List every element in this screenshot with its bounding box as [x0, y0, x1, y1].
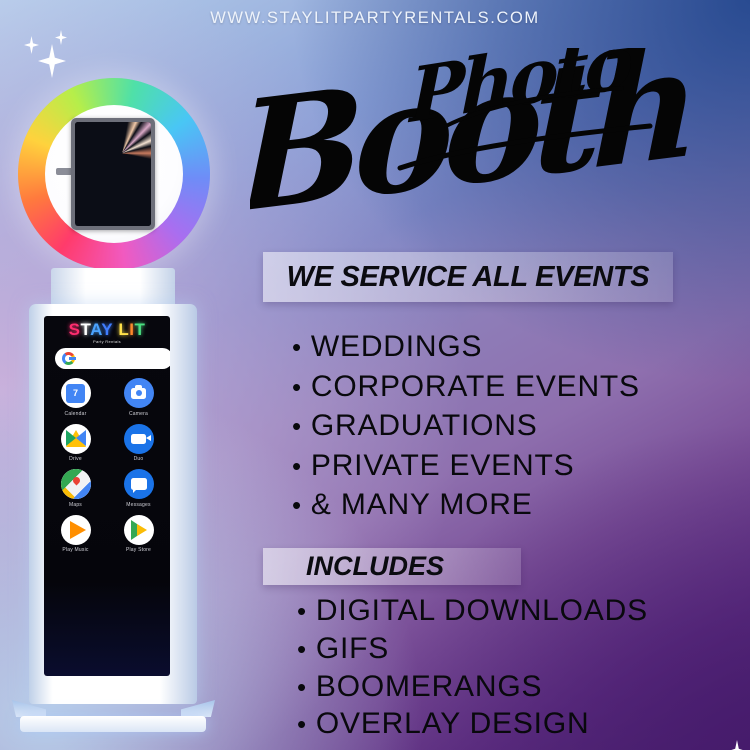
app-item-duo[interactable]: Duo — [107, 424, 170, 463]
photo-booth-illustration: STAY LIT Party Rentals 7 Calendar Camera — [8, 70, 238, 742]
events-banner-label: WE SERVICE ALL EVENTS — [287, 261, 650, 294]
staylit-logo-letter: S — [69, 320, 81, 339]
app-label: Play Music — [62, 547, 88, 553]
list-item: •GRADUATIONS — [292, 406, 640, 446]
page-title: Booth Photo — [250, 48, 720, 248]
staylit-logo: STAY LIT — [44, 321, 170, 338]
bullet-dot-icon: • — [292, 374, 302, 400]
app-grid: 7 Calendar Camera Drive Duo — [44, 378, 170, 553]
includes-banner-label: INCLUDES — [306, 551, 444, 582]
app-item-drive[interactable]: Drive — [44, 424, 107, 463]
ring-light-tablet-mount — [71, 118, 155, 230]
app-label: Play Store — [126, 547, 151, 553]
play-music-icon — [61, 515, 91, 545]
events-banner: WE SERVICE ALL EVENTS — [263, 252, 673, 302]
includes-banner: INCLUDES — [263, 548, 521, 585]
tablet-device — [75, 122, 151, 226]
bullet-dot-icon: • — [292, 492, 302, 518]
app-label: Messages — [126, 502, 150, 508]
list-item-label: OVERLAY DESIGN — [316, 705, 590, 743]
app-label: Maps — [69, 502, 82, 508]
sparkle-star-medium — [728, 740, 746, 750]
maps-icon — [61, 469, 91, 499]
app-item-play-music[interactable]: Play Music — [44, 515, 107, 554]
staylit-logo-letter: T — [135, 320, 146, 339]
calendar-icon: 7 — [61, 378, 91, 408]
list-item: •PRIVATE EVENTS — [292, 446, 640, 486]
list-item: •WEDDINGS — [292, 327, 640, 367]
list-item: •BOOMERANGS — [297, 668, 648, 706]
app-item-messages[interactable]: Messages — [107, 469, 170, 508]
bullet-dot-icon: • — [297, 711, 307, 737]
kiosk-screen: STAY LIT Party Rentals 7 Calendar Camera — [44, 316, 170, 676]
google-search-bar[interactable] — [55, 348, 170, 369]
list-item-label: GIFS — [316, 630, 389, 668]
list-item: •DIGITAL DOWNLOADS — [297, 592, 648, 630]
bullet-dot-icon: • — [297, 674, 307, 700]
sparkle-star-medium — [24, 36, 39, 54]
list-item-label: BOOMERANGS — [316, 668, 542, 706]
staylit-logo-letter: L — [118, 320, 129, 339]
photo-booth-script-title: Booth Photo — [250, 48, 720, 248]
app-item-camera[interactable]: Camera — [107, 378, 170, 417]
staylit-logo-letter: T — [80, 320, 90, 339]
list-item: •& MANY MORE — [292, 485, 640, 525]
drive-icon — [61, 424, 91, 454]
bullet-dot-icon: • — [297, 598, 307, 624]
play-store-icon — [124, 515, 154, 545]
booth-base — [8, 698, 219, 738]
list-item-label: WEDDINGS — [311, 327, 482, 367]
list-item: •CORPORATE EVENTS — [292, 367, 640, 407]
duo-icon — [124, 424, 154, 454]
bullet-dot-icon: • — [292, 453, 302, 479]
messages-icon — [124, 469, 154, 499]
list-item-label: GRADUATIONS — [311, 406, 538, 446]
calendar-day-number: 7 — [66, 384, 85, 403]
booth-kiosk-body: STAY LIT Party Rentals 7 Calendar Camera — [29, 304, 197, 704]
app-label: Calendar — [65, 411, 87, 417]
app-label: Duo — [134, 456, 144, 462]
camera-icon — [124, 378, 154, 408]
app-label: Camera — [129, 411, 148, 417]
list-item: •GIFS — [297, 630, 648, 668]
list-item-label: & MANY MORE — [311, 485, 533, 525]
list-item-label: PRIVATE EVENTS — [311, 446, 574, 486]
tablet-wallpaper — [75, 122, 151, 226]
staylit-logo-subtitle: Party Rentals — [44, 339, 170, 344]
app-label: Drive — [69, 456, 82, 462]
poster-canvas: WWW.STAYLITPARTYRENTALS.COM STAY LIT Par… — [0, 0, 750, 750]
base-wing-left — [12, 700, 46, 717]
bullet-dot-icon: • — [297, 636, 307, 662]
list-item-label: CORPORATE EVENTS — [311, 367, 640, 407]
events-bullet-list: •WEDDINGS•CORPORATE EVENTS•GRADUATIONS•P… — [292, 327, 640, 525]
bullet-dot-icon: • — [292, 413, 302, 439]
sparkle-star-small — [55, 30, 67, 45]
google-icon — [62, 352, 75, 365]
site-url-text: WWW.STAYLITPARTYRENTALS.COM — [0, 9, 750, 28]
list-item: •OVERLAY DESIGN — [297, 705, 648, 743]
base-plate — [20, 716, 206, 732]
app-item-maps[interactable]: Maps — [44, 469, 107, 508]
staylit-logo-letter: Y — [101, 320, 113, 339]
app-item-calendar[interactable]: 7 Calendar — [44, 378, 107, 417]
bullet-dot-icon: • — [292, 334, 302, 360]
base-wing-right — [181, 700, 215, 717]
includes-bullet-list: •DIGITAL DOWNLOADS•GIFS•BOOMERANGS•OVERL… — [297, 592, 648, 743]
list-item-label: DIGITAL DOWNLOADS — [316, 592, 648, 630]
staylit-logo-letter: A — [90, 320, 101, 339]
app-item-play-store[interactable]: Play Store — [107, 515, 170, 554]
